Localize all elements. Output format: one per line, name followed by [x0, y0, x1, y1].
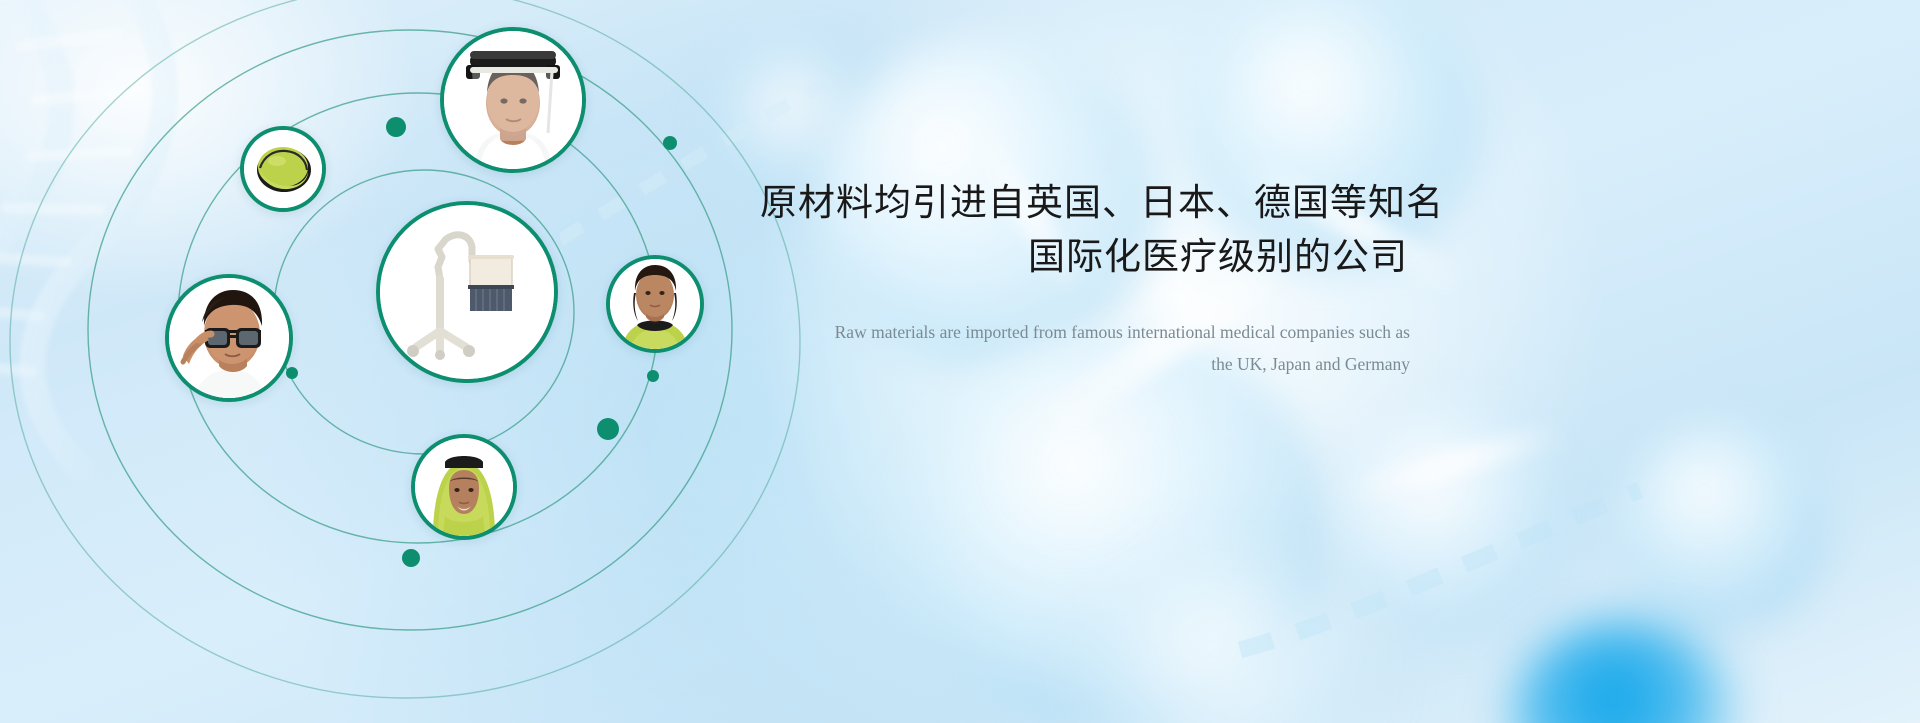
bubble-man-face-shield[interactable] [440, 27, 586, 173]
banner-copy: 原材料均引进自英国、日本、德国等知名 国际化医疗级别的公司 Raw materi… [760, 176, 1410, 380]
mobile-x-ray-lead-barrier-photo [380, 205, 554, 379]
woman-wearing-thyroid-collar-photo [610, 259, 700, 349]
bubble-mobile-barrier[interactable] [376, 201, 558, 383]
orbit-dot-upper-right [663, 136, 677, 150]
hero-banner: 原材料均引进自英国、日本、德国等知名 国际化医疗级别的公司 Raw materi… [0, 0, 1920, 723]
bubble-green-cap[interactable] [240, 126, 326, 212]
orbit-dot-right [647, 370, 659, 382]
bubble-woman-thyroid-collar[interactable] [606, 255, 704, 353]
orbit-dot-left [286, 367, 298, 379]
dna-helix-graphic [0, 0, 360, 480]
subtitle-line-1: Raw materials are imported from famous i… [760, 316, 1410, 348]
dashed-accent-line [1230, 470, 1650, 660]
man-wearing-face-shield-photo [444, 31, 582, 169]
headline-line-2: 国际化医疗级别的公司 [760, 230, 1410, 284]
bubble-man-lead-glasses[interactable] [165, 274, 293, 402]
molecule-bond [1341, 419, 1569, 507]
molecule-blob [1330, 400, 1570, 640]
subtitle-line-2: the UK, Japan and Germany [760, 348, 1410, 380]
molecule-accent-blob [1510, 620, 1740, 723]
green-radiation-cap-product-photo [244, 130, 322, 208]
molecule-blob [900, 330, 1330, 723]
headline-line-1: 原材料均引进自英国、日本、德国等知名 [760, 176, 1410, 230]
orbit-dot-bottom [402, 549, 420, 567]
man-wearing-lead-glasses-photo [169, 278, 289, 398]
orbit-dot-large-right [597, 418, 619, 440]
subtitle: Raw materials are imported from famous i… [760, 316, 1410, 380]
bubble-woman-protective-hood[interactable] [411, 434, 517, 540]
molecule-blob [1080, 560, 1380, 723]
molecule-blob [1620, 420, 1830, 630]
woman-wearing-protective-hood-photo [415, 438, 513, 536]
orbit-dot-top [386, 117, 406, 137]
